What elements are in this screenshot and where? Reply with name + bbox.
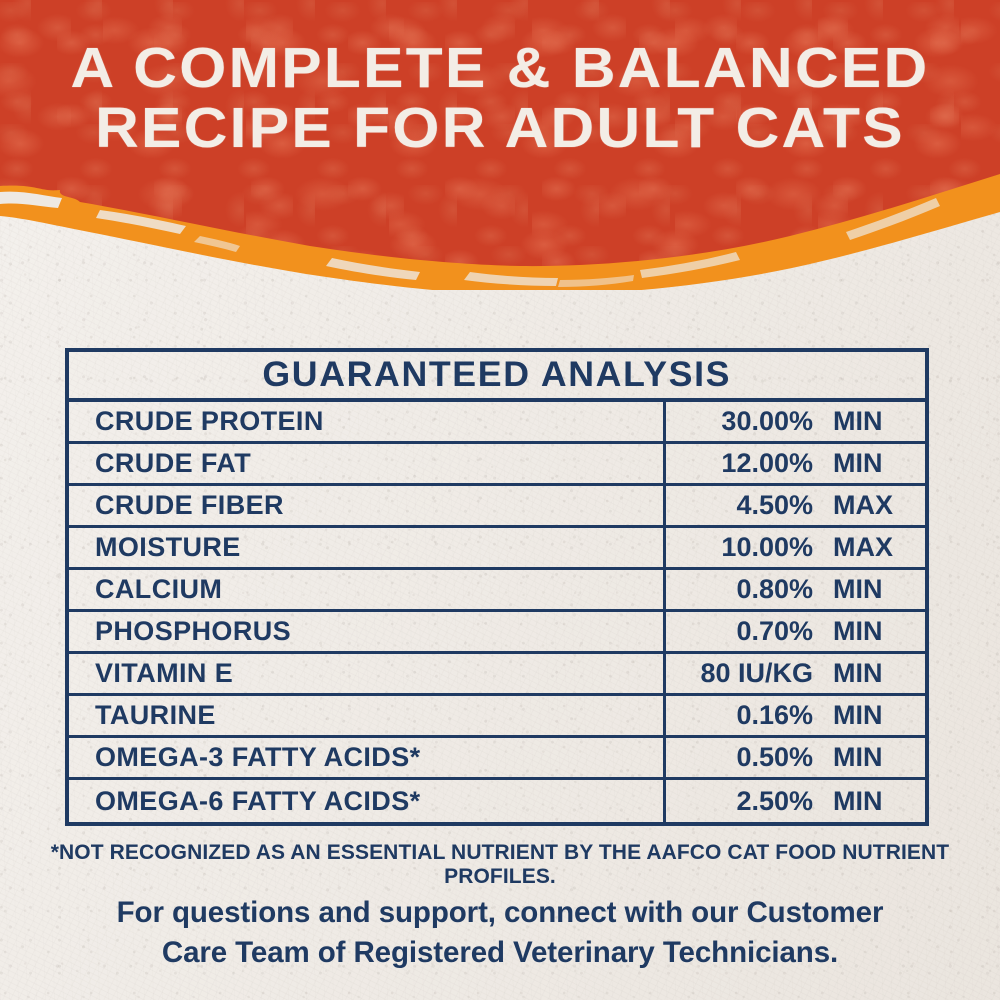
nutrient-qualifier: MAX [818,490,888,521]
nutrient-name: CRUDE PROTEIN [69,402,666,441]
nutrient-name: PHOSPHORUS [69,612,666,651]
nutrient-value: 0.70% MIN [666,612,925,651]
nutrient-value: 2.50% MIN [666,780,925,822]
table-header: GUARANTEED ANALYSIS [69,352,925,402]
table-row: CALCIUM 0.80% MIN [69,570,925,612]
table-row: TAURINE 0.16% MIN [69,696,925,738]
nutrient-value: 4.50% MAX [666,486,925,525]
nutrient-name: CALCIUM [69,570,666,609]
nutrient-value: 0.16% MIN [666,696,925,735]
nutrient-qualifier: MIN [818,406,888,437]
nutrient-value: 12.00% MIN [666,444,925,483]
nutrient-qualifier: MIN [818,448,888,479]
table-row: OMEGA-6 FATTY ACIDS* 2.50% MIN [69,780,925,822]
page-title-line-2: RECIPE FOR ADULT CATS [0,98,1000,158]
nutrient-name: CRUDE FAT [69,444,666,483]
nutrient-name: VITAMIN E [69,654,666,693]
support-message-line-1: For questions and support, connect with … [60,893,940,933]
nutrient-qualifier: MIN [818,616,888,647]
table-row: PHOSPHORUS 0.70% MIN [69,612,925,654]
table-row: CRUDE PROTEIN 30.00% MIN [69,402,925,444]
nutrient-qualifier: MAX [818,532,888,563]
nutrient-value: 0.50% MIN [666,738,925,777]
nutrient-name: CRUDE FIBER [69,486,666,525]
table-row: CRUDE FAT 12.00% MIN [69,444,925,486]
nutrient-name: OMEGA-6 FATTY ACIDS* [69,780,666,822]
nutrient-name: TAURINE [69,696,666,735]
page-title-line-1: A COMPLETE & BALANCED [0,38,1000,98]
hero-banner: A COMPLETE & BALANCED RECIPE FOR ADULT C… [0,0,1000,270]
nutrient-amount: 0.80% [666,574,818,605]
nutrient-value: 10.00% MAX [666,528,925,567]
table-row: VITAMIN E 80 IU/KG MIN [69,654,925,696]
table-row: OMEGA-3 FATTY ACIDS* 0.50% MIN [69,738,925,780]
nutrient-amount: 0.70% [666,616,818,647]
footnote-text: *NOT RECOGNIZED AS AN ESSENTIAL NUTRIENT… [0,841,1000,889]
nutrient-qualifier: MIN [818,786,888,817]
guaranteed-analysis-table: GUARANTEED ANALYSIS CRUDE PROTEIN 30.00%… [65,348,929,826]
nutrient-amount: 2.50% [666,786,818,817]
nutrient-amount: 0.16% [666,700,818,731]
nutrient-amount: 80 IU/KG [666,658,818,689]
nutrient-qualifier: MIN [818,658,888,689]
nutrient-qualifier: MIN [818,742,888,773]
nutrient-qualifier: MIN [818,574,888,605]
table-row: CRUDE FIBER 4.50% MAX [69,486,925,528]
table-title: GUARANTEED ANALYSIS [263,355,732,395]
nutrient-value: 30.00% MIN [666,402,925,441]
support-message: For questions and support, connect with … [60,893,940,973]
nutrient-value: 0.80% MIN [666,570,925,609]
page-title: A COMPLETE & BALANCED RECIPE FOR ADULT C… [0,38,1000,158]
table-row: MOISTURE 10.00% MAX [69,528,925,570]
nutrient-name: OMEGA-3 FATTY ACIDS* [69,738,666,777]
nutrient-qualifier: MIN [818,700,888,731]
nutrient-amount: 4.50% [666,490,818,521]
support-message-line-2: Care Team of Registered Veterinary Techn… [60,933,940,973]
nutrient-amount: 10.00% [666,532,818,563]
nutrient-amount: 0.50% [666,742,818,773]
nutrient-value: 80 IU/KG MIN [666,654,925,693]
nutrient-name: MOISTURE [69,528,666,567]
nutrient-amount: 30.00% [666,406,818,437]
nutrient-amount: 12.00% [666,448,818,479]
